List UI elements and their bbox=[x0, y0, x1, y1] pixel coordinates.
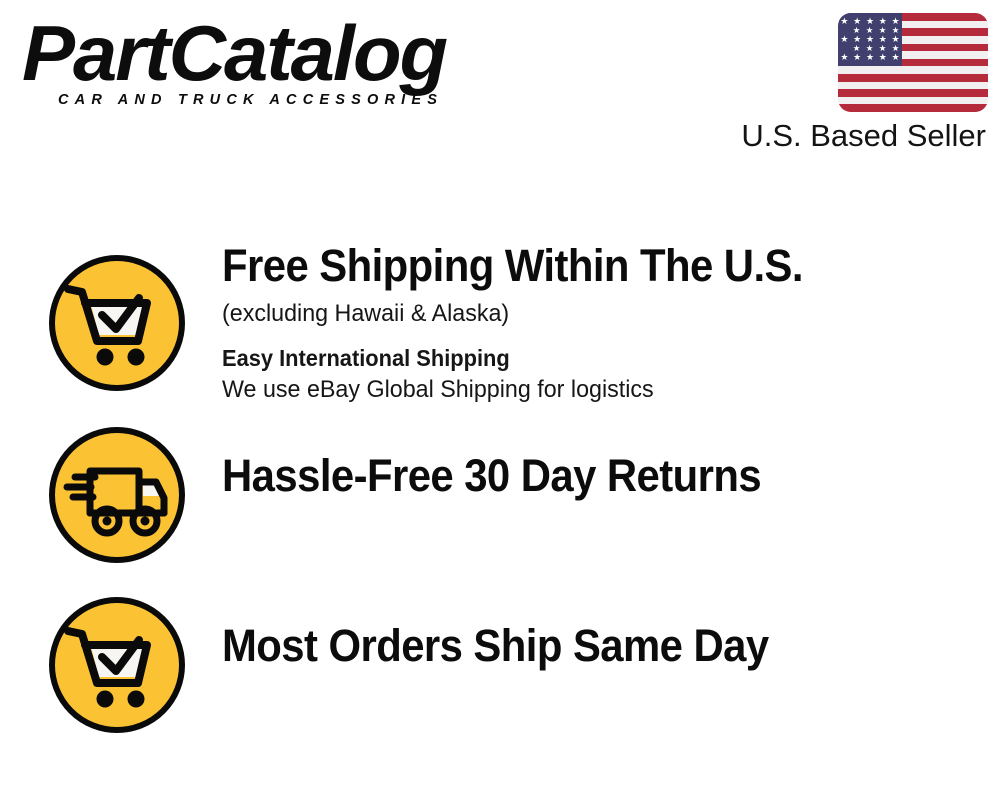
feature-text-block: Hassle-Free 30 Day Returns bbox=[222, 412, 982, 502]
shopping-cart-check-icon bbox=[47, 253, 187, 393]
promo-banner: PartCatalog CAR AND TRUCK ACCESSORIES ★★… bbox=[0, 0, 1000, 800]
delivery-truck-icon bbox=[47, 425, 187, 565]
feature-text-block: Free Shipping Within The U.S. (excluding… bbox=[222, 240, 982, 406]
feature-text-block: Most Orders Ship Same Day bbox=[222, 582, 982, 672]
feature-subline-bold: Easy International Shipping bbox=[222, 343, 944, 373]
feature-headline: Most Orders Ship Same Day bbox=[222, 620, 929, 672]
us-flag-icon: ★★★★★ ★★★★ ★★★★★ ★★★★ ★★★★★ bbox=[838, 13, 988, 112]
feature-subline: We use eBay Global Shipping for logistic… bbox=[222, 374, 944, 406]
feature-headline: Free Shipping Within The U.S. bbox=[222, 240, 929, 292]
us-based-seller-label: U.S. Based Seller bbox=[741, 118, 986, 154]
us-flag-badge: ★★★★★ ★★★★ ★★★★★ ★★★★ ★★★★★ bbox=[838, 13, 988, 112]
flag-canton: ★★★★★ ★★★★ ★★★★★ ★★★★ ★★★★★ bbox=[838, 13, 902, 66]
brand-logo: PartCatalog CAR AND TRUCK ACCESSORIES bbox=[22, 16, 492, 108]
feature-headline: Hassle-Free 30 Day Returns bbox=[222, 450, 929, 502]
feature-subline: (excluding Hawaii & Alaska) bbox=[222, 298, 944, 330]
brand-logo-wordmark: PartCatalog bbox=[22, 16, 501, 90]
shopping-cart-check-icon bbox=[47, 595, 187, 735]
